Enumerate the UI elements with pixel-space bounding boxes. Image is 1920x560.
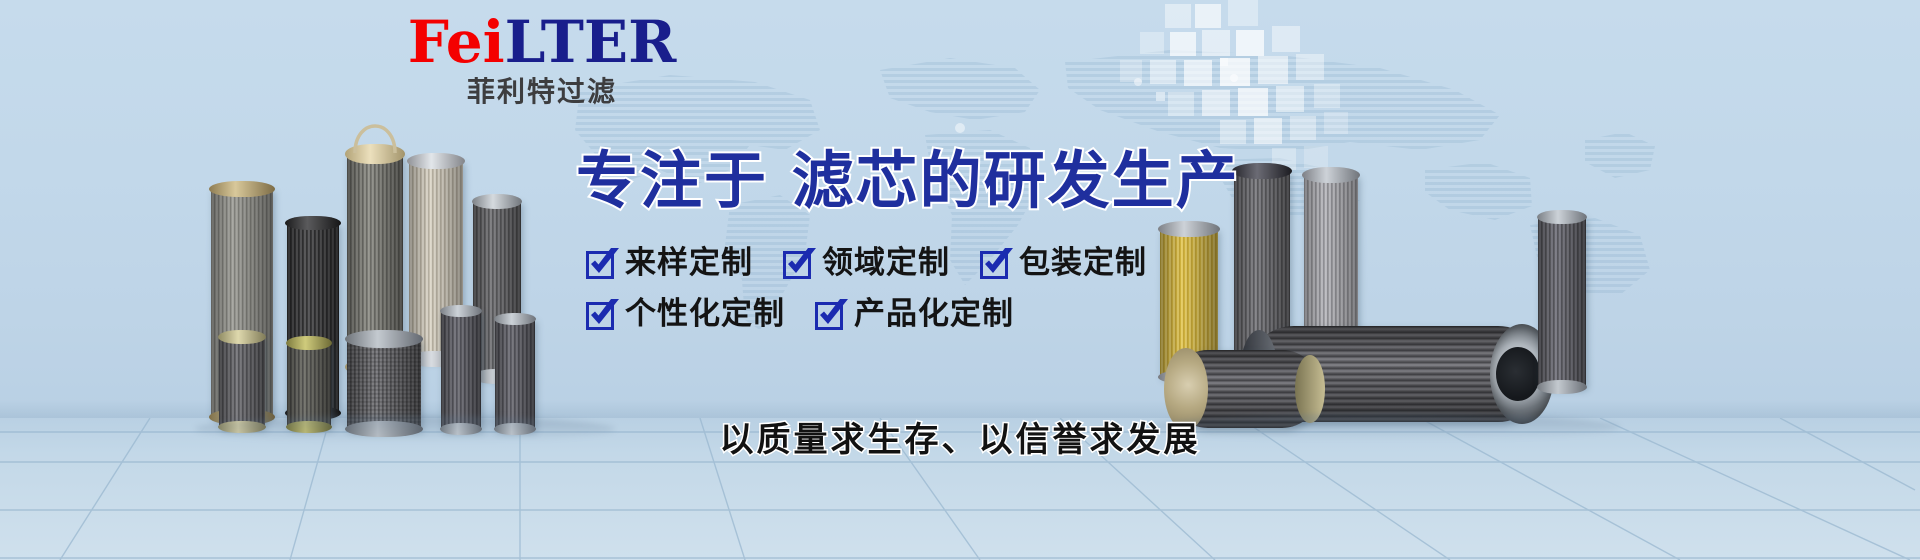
filter-cartridge (1538, 216, 1586, 388)
logo-wordmark: FeiLTER (392, 12, 692, 73)
logo-wordmark-red: Fei (408, 8, 505, 76)
checkbox-checked-icon (586, 300, 616, 330)
checkbox-checked-icon (783, 249, 813, 279)
feature-label: 来样定制 (625, 248, 753, 279)
checkbox-checked-icon (980, 249, 1010, 279)
page-title: 专注于 滤芯的研发生产 (576, 148, 1240, 213)
feature-item[interactable]: 领域定制 (783, 248, 950, 279)
feature-item[interactable]: 包装定制 (980, 248, 1147, 279)
feature-list: 来样定制 领域定制 包装定制 (586, 248, 1147, 330)
checkbox-checked-icon (586, 249, 616, 279)
feature-row-2: 个性化定制 产品化定制 (586, 299, 1147, 330)
feature-label: 个性化定制 (625, 299, 785, 330)
promotional-banner: FeiLTER 菲利特过滤 专注于 滤芯的研发生产 来样定制 (0, 0, 1920, 560)
feature-label: 产品化定制 (854, 299, 1014, 330)
feature-row-1: 来样定制 领域定制 包装定制 (586, 248, 1147, 279)
company-slogan: 以质量求生存、以信誉求发展 (0, 412, 1920, 461)
cartridge-handle-icon (351, 109, 399, 155)
feature-item[interactable]: 产品化定制 (815, 299, 1014, 330)
company-logo[interactable]: FeiLTER 菲利特过滤 (392, 12, 692, 108)
logo-chinese-name: 菲利特过滤 (392, 77, 692, 108)
filter-cartridges-left-group (195, 130, 615, 430)
feature-item[interactable]: 个性化定制 (586, 299, 785, 330)
checkbox-checked-icon (815, 300, 845, 330)
feature-label: 包装定制 (1019, 248, 1147, 279)
feature-label: 领域定制 (822, 248, 950, 279)
logo-wordmark-blue: LTER (505, 8, 677, 76)
feature-item[interactable]: 来样定制 (586, 248, 753, 279)
